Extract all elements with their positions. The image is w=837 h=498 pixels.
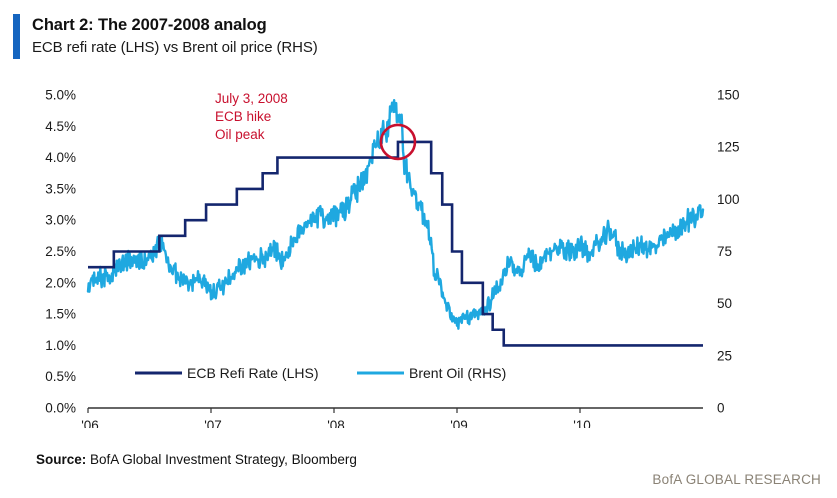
svg-text:'06: '06 [81,418,99,428]
svg-text:ECB hike: ECB hike [215,109,271,124]
svg-text:50: 50 [717,296,732,311]
chart-svg: 0.0%0.5%1.0%1.5%2.0%2.5%3.0%3.5%4.0%4.5%… [0,78,837,428]
source-line: Source: BofA Global Investment Strategy,… [36,452,357,467]
source-text: BofA Global Investment Strategy, Bloombe… [86,452,357,467]
svg-text:ECB Refi Rate (LHS): ECB Refi Rate (LHS) [187,365,318,381]
svg-text:4.0%: 4.0% [45,150,76,165]
svg-text:0.0%: 0.0% [45,401,76,416]
svg-text:5.0%: 5.0% [45,88,76,103]
svg-text:75: 75 [717,244,732,259]
chart-page: Chart 2: The 2007-2008 analog ECB refi r… [0,0,837,498]
svg-text:25: 25 [717,348,732,363]
title-block: Chart 2: The 2007-2008 analog ECB refi r… [32,14,318,59]
svg-text:3.5%: 3.5% [45,181,76,196]
left-axis-ticks: 0.0%0.5%1.0%1.5%2.0%2.5%3.0%3.5%4.0%4.5%… [45,88,76,416]
svg-text:July 3, 2008: July 3, 2008 [215,91,288,106]
svg-text:Brent Oil (RHS): Brent Oil (RHS) [409,365,506,381]
svg-text:4.5%: 4.5% [45,119,76,134]
chart-subtitle: ECB refi rate (LHS) vs Brent oil price (… [32,37,318,59]
brent-oil-line [88,100,703,328]
chart-legend: ECB Refi Rate (LHS)Brent Oil (RHS) [135,365,506,381]
svg-text:100: 100 [717,192,740,207]
svg-text:'09: '09 [450,418,468,428]
svg-text:3.0%: 3.0% [45,213,76,228]
svg-text:0.5%: 0.5% [45,369,76,384]
svg-text:125: 125 [717,140,740,155]
svg-text:1.0%: 1.0% [45,338,76,353]
right-axis-ticks: 0255075100125150 [717,88,740,416]
annotation-text: July 3, 2008ECB hikeOil peak [215,91,288,142]
svg-text:2.5%: 2.5% [45,244,76,259]
title-accent-bar [13,14,20,59]
plot-area: 0.0%0.5%1.0%1.5%2.0%2.5%3.0%3.5%4.0%4.5%… [0,78,837,428]
svg-text:'07: '07 [204,418,222,428]
x-axis: '06'07'08'09'10 [81,408,703,428]
chart-title: Chart 2: The 2007-2008 analog [32,14,318,36]
svg-text:2.0%: 2.0% [45,275,76,290]
source-label: Source: [36,452,86,467]
svg-text:Oil peak: Oil peak [215,127,265,142]
svg-text:150: 150 [717,88,740,103]
chart-header: Chart 2: The 2007-2008 analog ECB refi r… [13,14,318,59]
svg-text:1.5%: 1.5% [45,307,76,322]
svg-text:'10: '10 [573,418,591,428]
svg-text:'08: '08 [327,418,345,428]
brand-footer: BofA GLOBAL RESEARCH [652,472,821,487]
svg-text:0: 0 [717,401,725,416]
ecb-refi-rate-step-line [88,142,703,345]
